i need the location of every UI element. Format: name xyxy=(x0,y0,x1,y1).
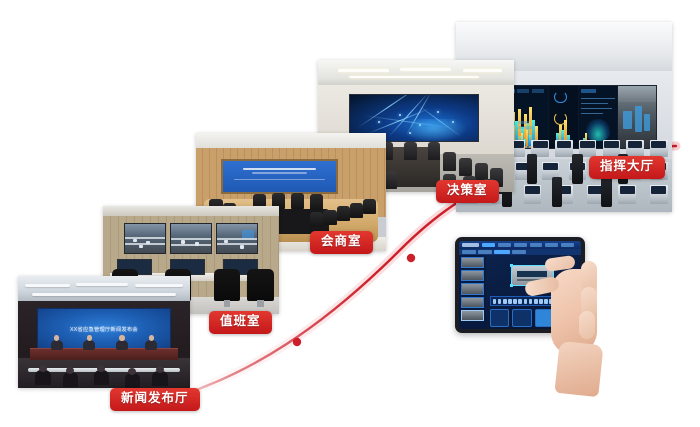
curve-node-1 xyxy=(293,338,301,346)
speaker xyxy=(145,340,157,350)
badge-consultation-room[interactable]: 会商室 xyxy=(310,231,373,254)
speaker xyxy=(51,340,63,350)
badge-command-hall[interactable]: 指挥大厅 xyxy=(589,156,665,179)
ceiling xyxy=(196,133,386,150)
speaker xyxy=(116,340,128,350)
speaker xyxy=(83,340,95,350)
hand-holding-tablet xyxy=(541,251,619,391)
badge-duty-room[interactable]: 值班室 xyxy=(209,311,272,334)
tablet-top-tabs[interactable] xyxy=(459,241,581,249)
cctv-monitor-1 xyxy=(124,223,166,253)
audience xyxy=(125,373,140,388)
tablet-source-list[interactable] xyxy=(459,255,486,329)
office-chair xyxy=(247,269,273,301)
photo-news-release-hall[interactable]: XX省应急管理厅新闻发布会 xyxy=(18,276,190,388)
meeting-screen xyxy=(221,159,339,194)
audience xyxy=(152,371,167,386)
badge-decision-room[interactable]: 决策室 xyxy=(436,180,499,203)
curve-node-2 xyxy=(407,254,415,262)
tablet-with-hand[interactable] xyxy=(455,237,635,397)
cctv-monitor-3 xyxy=(216,223,258,253)
audience xyxy=(63,372,78,387)
screen-headline: XX省应急管理厅新闻发布会 xyxy=(38,326,170,333)
office-chair xyxy=(214,269,240,301)
ceiling xyxy=(18,276,190,303)
ceiling xyxy=(318,60,514,86)
audience xyxy=(35,370,50,385)
ceiling xyxy=(103,206,279,216)
infographic-stage: XX省应急管理厅新闻发布会 xyxy=(0,0,700,427)
audience xyxy=(94,370,109,385)
badge-news-release-hall[interactable]: 新闻发布厅 xyxy=(110,388,200,411)
cctv-monitor-2 xyxy=(170,223,212,253)
